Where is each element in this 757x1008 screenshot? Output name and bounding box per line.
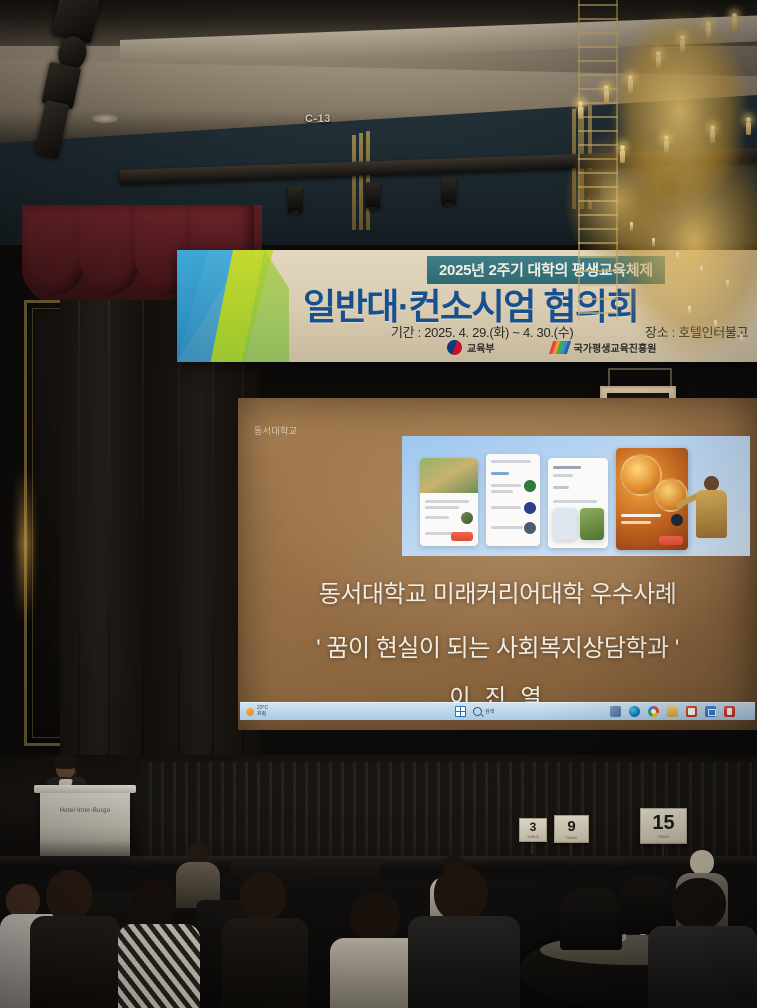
mockup-text-line [491,484,521,487]
table-number: 3 [530,821,537,833]
mockup-avatar [524,502,536,514]
audience-person [30,870,120,1008]
slide-app-mockup-image [402,436,750,556]
audience-person [408,866,520,1008]
chandelier-flame [732,12,737,19]
zoom-icon[interactable] [705,706,716,717]
person-head [350,892,400,942]
podium-top [34,785,136,793]
person-head [434,866,488,922]
chandelier-flame [628,74,633,81]
mockup-text-line [553,486,569,489]
drape-fold [212,300,214,770]
mockup-text-line [491,472,509,475]
audience-person [648,878,757,1008]
person-body [30,916,120,1008]
table-placard-sub: TABLE [527,835,539,839]
chandelier-candle [706,26,711,39]
chandelier-crystal [630,222,633,231]
logo-label: 교육부 [467,340,495,355]
wall-sconce-glow [18,470,32,620]
taegeuk-icon [447,340,462,355]
table-placard-sub: TABLE [565,836,577,840]
file-explorer-icon[interactable] [667,706,678,717]
banner-period: 기간 : 2025. 4. 29.(화) ~ 4. 30.(수) [391,322,573,341]
table-placard: 15 TABLE [640,808,687,844]
chandelier-candle [604,90,609,103]
search-placeholder: 검색 [485,708,494,715]
slide-corner-label: 동서대학교 [254,424,297,437]
chandelier-crystal [740,334,743,343]
chandelier-flame [620,144,625,151]
mockup-card [420,458,478,546]
edge-icon[interactable] [629,706,640,717]
wall-trim [352,135,356,230]
mockup-text-line [425,500,469,503]
speaker-hair [54,755,77,769]
powerpoint-icon[interactable] [686,706,697,717]
chandelier-crystal [700,266,703,275]
chandelier-flame [664,134,669,141]
drape-fold [108,300,110,770]
chandelier-flame [706,20,711,27]
chandelier-candle [656,56,661,69]
start-icon[interactable] [455,706,466,717]
truss-label: C-13 [305,113,331,125]
chandelier-candle [664,140,669,153]
projection-screen: 동서대학교 [238,398,757,730]
chandelier-candle [732,18,737,31]
mockup-text-line [491,490,513,493]
mockup-card [486,454,540,546]
stage-backdrop-drape [60,300,260,770]
mockup-cta-button [451,532,473,541]
presenter-head [704,476,719,491]
weather-desc: 흐림 [257,712,268,718]
mockup-avatar [524,480,536,492]
sun-icon [246,708,254,716]
wall-trim [359,133,363,230]
taskbar-center-group: 검색 [455,706,494,717]
table-placard: 3 TABLE [519,818,547,842]
chandelier-candle [628,80,633,93]
curtain-swag [78,205,142,295]
mockup-text-line [621,521,651,524]
stage-light [442,178,456,204]
person-head [132,880,176,930]
mockup-text-line [425,506,459,509]
mockup-cta-button [659,536,683,545]
mockup-text-line [553,466,581,469]
chandelier-candle [578,106,583,119]
person-head [240,872,286,922]
chandelier-candle [710,130,715,143]
chair-back [560,888,622,950]
chandelier-flame [746,116,751,123]
rig-fixture [34,100,69,160]
mockup-card [548,458,608,548]
audience-person [222,872,308,1008]
chandelier-crystal [652,238,655,247]
chandelier-crystal [714,320,717,329]
windows-taskbar[interactable]: 23°C 흐림 검색 [240,702,755,720]
drape-fold [178,300,180,770]
chandelier-flame [680,34,685,41]
stage-light [366,182,380,208]
mockup-avatar [524,522,536,534]
mockup-text-line [491,460,531,463]
mockup-text-line [621,514,661,517]
person-head [188,842,208,864]
table-number: 15 [652,813,674,833]
table-placard-sub: TABLE [657,835,669,839]
chandelier-flame [656,50,661,57]
chandelier-crystal [726,280,729,289]
person-body [408,916,520,1008]
taskbar-app-icons [610,706,735,717]
chandelier-flame [710,124,715,131]
stage-light [288,186,302,212]
chandelier-flame [578,100,583,107]
food-bowl [654,478,688,512]
search-icon [473,707,482,716]
mockup-text-line [491,526,523,529]
slide-presenter-figure [692,476,736,554]
table-placard: 9 TABLE [554,815,589,843]
mockup-text-line [425,516,449,519]
podium-plate-text: Hotel Inter-Burgo [40,808,130,814]
chandelier-crystal [688,306,691,315]
taskbar-search-box[interactable]: 검색 [473,707,494,716]
mockup-photo [420,458,478,493]
slide-line-1: 동서대학교 미래커리어대학 우수사례 [238,574,757,609]
chandelier-crystal [676,252,679,261]
wall-trim [366,131,370,230]
chandelier-candle [746,122,751,135]
chandelier-candle [680,40,685,53]
mockup-avatar [671,514,683,526]
taskbar-weather-widget[interactable]: 23°C 흐림 [246,706,268,717]
mockup-text-line [491,506,521,509]
mockup-sub-card [553,508,577,540]
logo-moe: 교육부 [447,340,495,355]
chandelier [560,0,757,390]
chrome-icon[interactable] [648,706,659,717]
person-body [648,926,757,1008]
mockup-food-card [616,448,688,550]
presenter-body [696,490,727,538]
mockup-text-line [553,500,597,503]
person-head [672,878,726,930]
mockup-sub-card [580,508,604,540]
chandelier-candle [620,150,625,163]
task-view-icon[interactable] [610,706,621,717]
mockup-text-line [553,474,573,477]
conference-hall-photo: C-13 2025년 2주기 대학의 평 [0,0,757,1008]
person-head [46,870,92,922]
drape-fold [78,300,80,770]
acrobat-icon[interactable] [724,706,735,717]
table-number: 9 [567,819,575,834]
chandelier-flame [604,84,609,91]
drape-fold [142,300,144,770]
audience-person [118,880,200,1008]
mockup-avatar [461,512,473,524]
person-body [118,924,200,1008]
slide-line-2: ' 꿈이 현실이 되는 사회복지상담학과 ' [238,628,757,663]
person-head [690,850,714,875]
banner-decoration [177,250,289,362]
person-body [222,918,308,1008]
